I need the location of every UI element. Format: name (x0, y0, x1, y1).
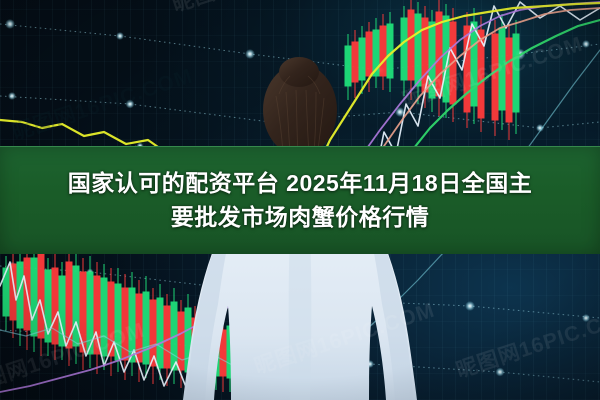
banner-image: 昵图网16PIC.COM昵图网16PIC.COM昵图网16PIC.COM昵图网1… (0, 0, 600, 400)
vignette-overlay (0, 0, 600, 400)
